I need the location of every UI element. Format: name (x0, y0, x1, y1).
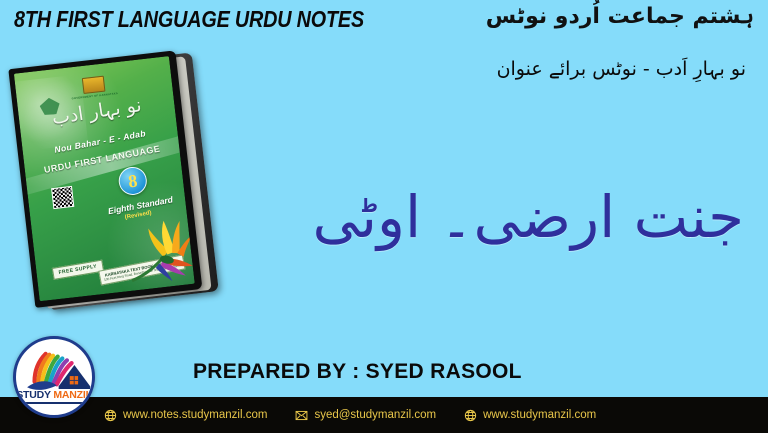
logo-word-manzil: MANZIL (53, 389, 91, 401)
footer-bar: www.notes.studymanzil.com syed@studymanz… (0, 397, 768, 433)
textbook-cover-image: GOVERNMENT OF KARNATAKA نو بہار ادب Nou … (8, 48, 221, 319)
footer-link-email[interactable]: syed@studymanzil.com (295, 409, 436, 422)
footer-link-main-site[interactable]: www.studymanzil.com (464, 409, 596, 422)
page-title-english: 8TH FIRST LANGUAGE URDU NOTES (14, 6, 364, 33)
page-title-urdu: ہشتم جماعت اُردو نوٹس (486, 4, 754, 29)
bird-of-paradise-flower-icon (121, 208, 195, 287)
karnataka-emblem-icon (82, 76, 106, 94)
prepared-by-text: PREPARED BY : SYED RASOOL (193, 360, 522, 384)
footer-link-label: www.studymanzil.com (483, 409, 596, 421)
globe-icon (464, 409, 477, 422)
logo-underline (22, 402, 86, 404)
footer-link-notes-site[interactable]: www.notes.studymanzil.com (104, 409, 267, 422)
class-number: 8 (127, 172, 138, 191)
logo-graphic-icon (16, 339, 92, 415)
qr-code-icon (51, 186, 74, 209)
logo-word-study: STUDY (16, 389, 50, 401)
study-manzil-logo: STUDY MANZIL (13, 336, 95, 418)
lesson-title-urdu: جنت ارضی۔ اوٹی (313, 178, 745, 256)
envelope-icon (295, 409, 308, 422)
globe-icon (104, 409, 117, 422)
poster-canvas: 8TH FIRST LANGUAGE URDU NOTES ہشتم جماعت… (0, 0, 768, 433)
footer-link-label: www.notes.studymanzil.com (123, 409, 267, 421)
free-supply-stamp: FREE SUPPLY (52, 260, 104, 280)
book-front-cover: GOVERNMENT OF KARNATAKA نو بہار ادب Nou … (8, 50, 202, 307)
logo-wordmark: STUDY MANZIL (16, 389, 92, 401)
class-number-badge: 8 (117, 165, 148, 196)
footer-link-label: syed@studymanzil.com (314, 409, 436, 421)
subtitle-urdu: نو بہارِ اَدب - نوٹس برائے عنوان (497, 58, 746, 80)
